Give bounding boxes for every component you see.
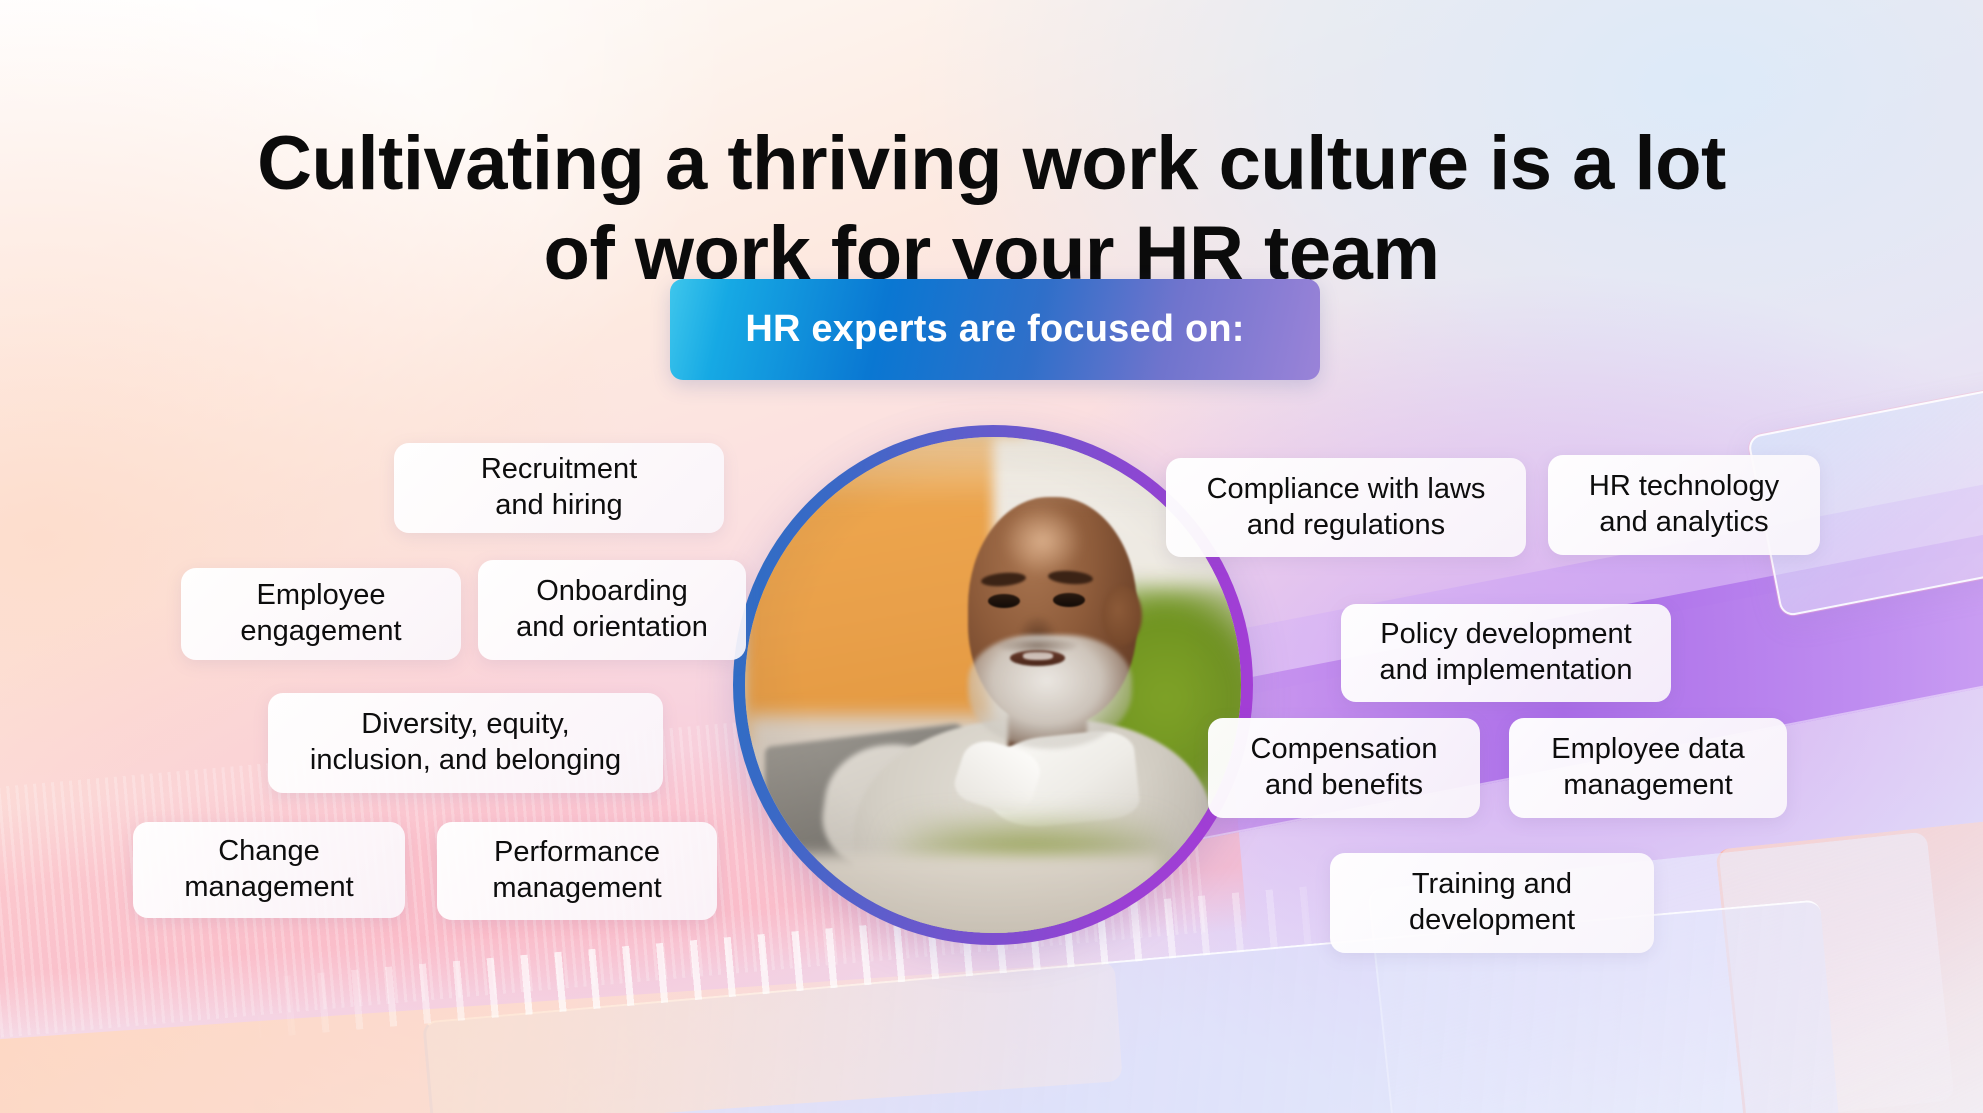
focus-card-compliance-with-laws[interactable]: Compliance with laws and regulations xyxy=(1166,458,1526,557)
background-peach-slab-bottom xyxy=(0,961,1123,1113)
focus-card-recruitment-and-hiring[interactable]: Recruitment and hiring xyxy=(394,443,724,533)
focus-card-change-management[interactable]: Change management xyxy=(133,822,405,918)
focus-card-hr-technology-and-analytics[interactable]: HR technology and analytics xyxy=(1548,455,1820,555)
focus-card-employee-engagement[interactable]: Employee engagement xyxy=(181,568,461,660)
slide-canvas: Cultivating a thriving work culture is a… xyxy=(0,0,1983,1113)
hr-focus-banner: HR experts are focused on: xyxy=(670,279,1320,380)
focus-card-employee-data-management[interactable]: Employee data management xyxy=(1509,718,1787,818)
page-title: Cultivating a thriving work culture is a… xyxy=(0,119,1983,298)
focus-card-onboarding-and-orientation[interactable]: Onboarding and orientation xyxy=(478,560,746,660)
focus-card-compensation-and-benefits[interactable]: Compensation and benefits xyxy=(1208,718,1480,818)
background-glass-panel-bottom-right xyxy=(1715,812,1983,1113)
focus-card-policy-development[interactable]: Policy development and implementation xyxy=(1341,604,1671,702)
focus-card-diversity-equity-inclusion[interactable]: Diversity, equity, inclusion, and belong… xyxy=(268,693,663,793)
focus-card-performance-management[interactable]: Performance management xyxy=(437,822,717,920)
hr-focus-banner-label: HR experts are focused on: xyxy=(745,308,1244,351)
focus-card-training-and-development[interactable]: Training and development xyxy=(1330,853,1654,953)
